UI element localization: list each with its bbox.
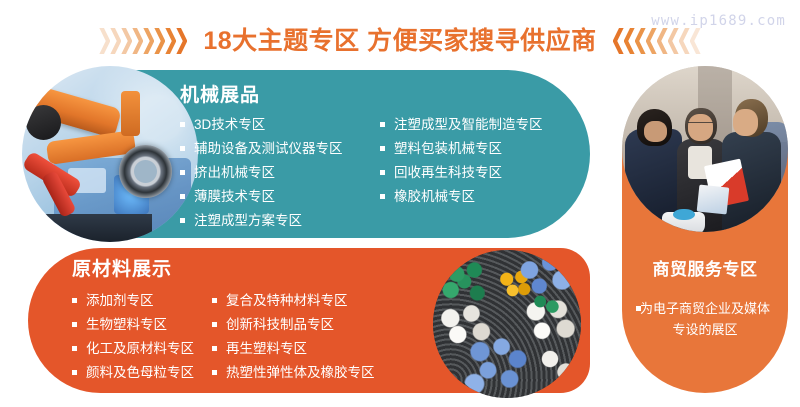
list-item[interactable]: 塑料包装机械专区: [380, 137, 580, 161]
business-people-photo: [622, 66, 788, 232]
poster-canvas: www.ip1689.com 18大主题专区 方便买家搜寻供应商: [0, 0, 800, 407]
materials-list-left: 添加剂专区 生物塑料专区 化工及原材料专区 颜料及色母粒专区: [72, 289, 212, 385]
chevrons-right-icon: [99, 28, 187, 54]
list-item[interactable]: 复合及特种材料专区: [212, 289, 442, 313]
plastic-pellets-photo: [433, 250, 581, 398]
machinery-card-body: 机械展品 3D技术专区 辅助设备及测试仪器专区 挤出机械专区 薄膜技术专区 注塑…: [180, 80, 580, 233]
list-item[interactable]: 热塑性弹性体及橡胶专区: [212, 361, 442, 385]
trade-service-card-title: 商贸服务专区: [622, 255, 788, 280]
chevrons-left-icon: [613, 28, 701, 54]
list-item[interactable]: 颜料及色母粒专区: [72, 361, 212, 385]
machinery-card-title: 机械展品: [180, 80, 580, 107]
poster-header: 18大主题专区 方便买家搜寻供应商: [0, 20, 800, 62]
list-item[interactable]: 再生塑料专区: [212, 337, 442, 361]
machinery-list-right: 注塑成型及智能制造专区 塑料包装机械专区 回收再生科技专区 橡胶机械专区: [380, 113, 580, 233]
list-item[interactable]: 挤出机械专区: [180, 161, 380, 185]
materials-card-body: 原材料展示 添加剂专区 生物塑料专区 化工及原材料专区 颜料及色母粒专区 复合及…: [72, 254, 452, 385]
materials-list-right: 复合及特种材料专区 创新科技制品专区 再生塑料专区 热塑性弹性体及橡胶专区: [212, 289, 442, 385]
list-item[interactable]: 注塑成型方案专区: [180, 209, 380, 233]
trade-service-card-body: 商贸服务专区 为电子商贸企业及媒体专设的展区: [622, 255, 788, 340]
list-item[interactable]: 回收再生科技专区: [380, 161, 580, 185]
list-item[interactable]: 注塑成型及智能制造专区: [380, 113, 580, 137]
page-title: 18大主题专区 方便买家搜寻供应商: [203, 29, 596, 54]
list-item[interactable]: 创新科技制品专区: [212, 313, 442, 337]
machinery-list-left: 3D技术专区 辅助设备及测试仪器专区 挤出机械专区 薄膜技术专区 注塑成型方案专…: [180, 113, 380, 233]
industrial-robot-arm-photo: [22, 66, 198, 242]
list-item[interactable]: 生物塑料专区: [72, 313, 212, 337]
list-item[interactable]: 橡胶机械专区: [380, 185, 580, 209]
materials-card-title: 原材料展示: [72, 254, 452, 281]
list-item[interactable]: 3D技术专区: [180, 113, 380, 137]
list-item[interactable]: 薄膜技术专区: [180, 185, 380, 209]
list-item[interactable]: 辅助设备及测试仪器专区: [180, 137, 380, 161]
list-item[interactable]: 添加剂专区: [72, 289, 212, 313]
trade-service-note: 为电子商贸企业及媒体专设的展区: [622, 298, 788, 340]
list-item[interactable]: 化工及原材料专区: [72, 337, 212, 361]
